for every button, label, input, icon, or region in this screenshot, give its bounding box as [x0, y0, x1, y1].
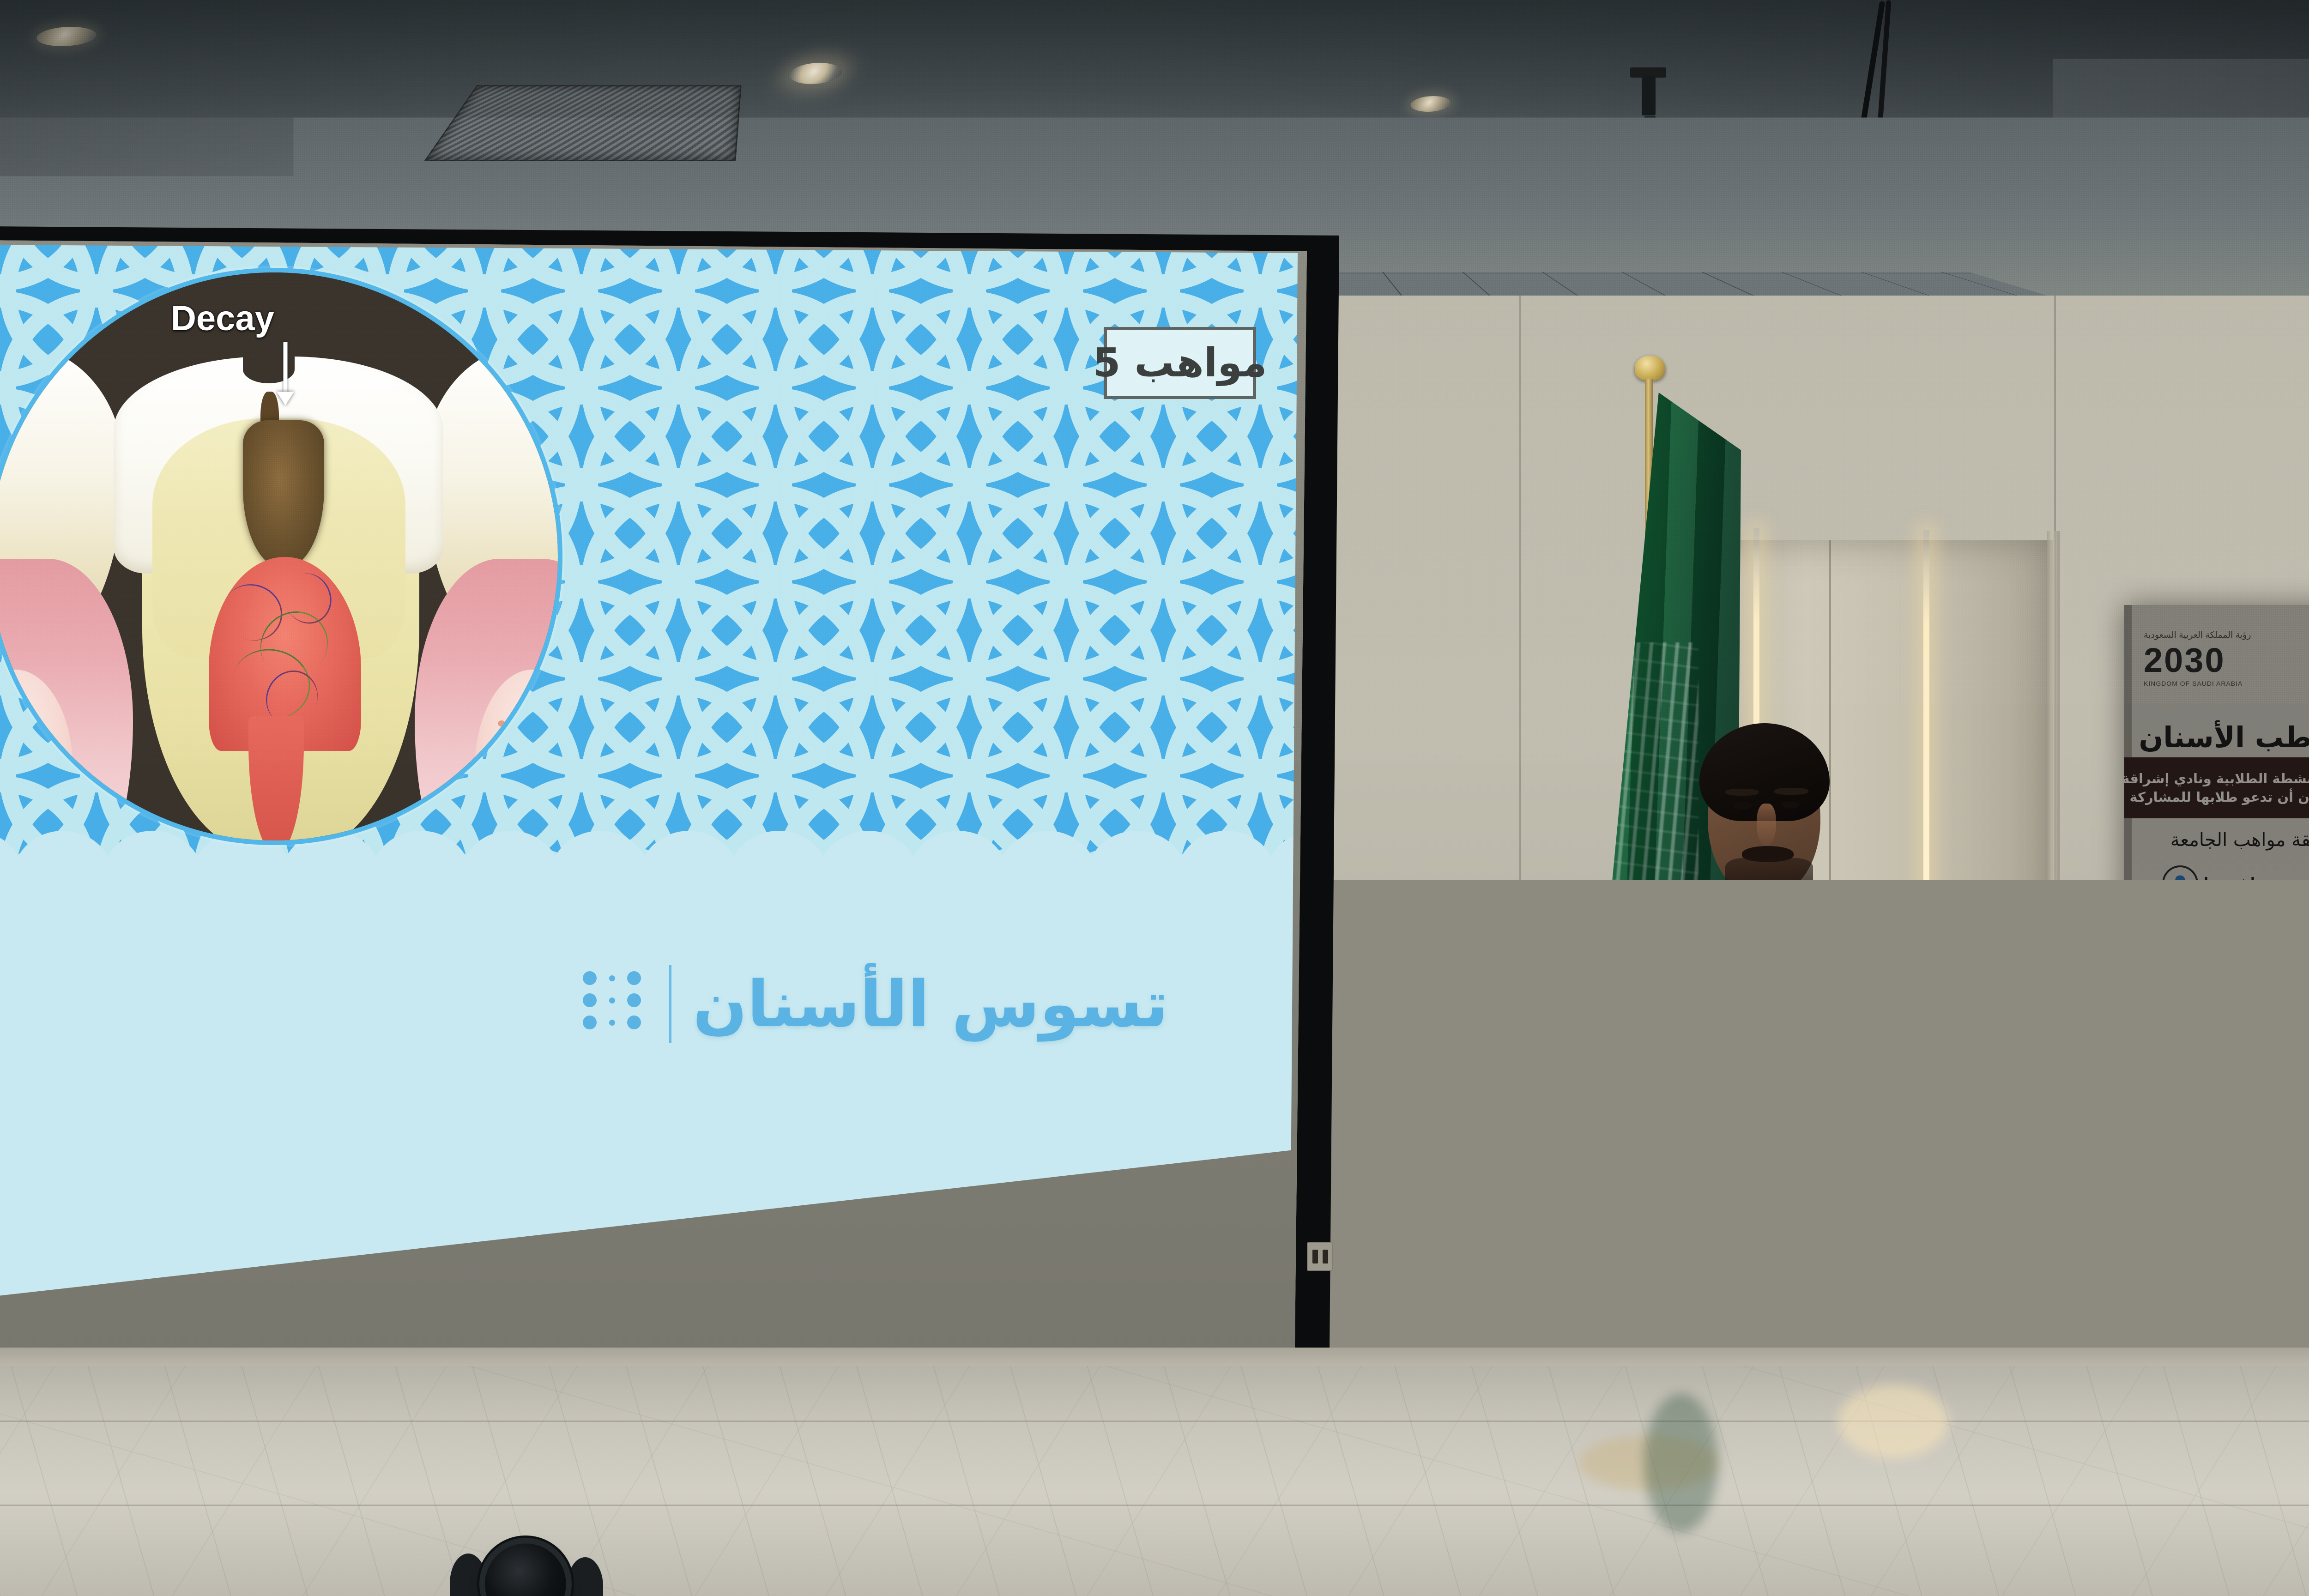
- wall-seam: [1519, 199, 1521, 1353]
- marble-veining: [0, 1366, 2309, 1596]
- presenter-arm-right: [1833, 1060, 1893, 1215]
- lecture-hall-scene: مواهب 5: [0, 0, 2309, 1596]
- prize-cell-acting: التمثيل: [2140, 1082, 2218, 1203]
- camera-body-right: [567, 1557, 603, 1596]
- vision-caption-en: KINGDOM OF SAUDI ARABIA: [2144, 680, 2251, 687]
- logo-dot: [583, 971, 597, 985]
- tv-icon: [2165, 1089, 2194, 1113]
- presenter-beard: [1725, 858, 1813, 903]
- tooth-cross-section-illustration: Decay: [0, 268, 562, 845]
- logo-dot: [609, 997, 615, 1004]
- logo-dot: [583, 993, 597, 1007]
- slide-badge-label: مواهب 5: [1093, 340, 1267, 386]
- floor-tile-seam: [0, 1421, 2309, 1422]
- door-frame-right: [2047, 531, 2060, 1367]
- logo-dot: [627, 993, 641, 1007]
- decay-cavity: [243, 420, 324, 568]
- presenter-eyebrow-left: [1725, 789, 1759, 796]
- scallop-base: [0, 894, 1298, 921]
- projector-vent-grille: [1571, 162, 1724, 224]
- projector-indicator-red-2: [1829, 218, 1845, 225]
- banner-category-label: اشرحها: [2204, 876, 2255, 892]
- presenter-pants: [1663, 1138, 1852, 1378]
- dot-grid-logo-icon: [579, 967, 648, 1041]
- mic-base: [2253, 1108, 2266, 1111]
- projector-side-grille: [1536, 166, 1566, 220]
- tv-frame: [2167, 1094, 2192, 1110]
- presenter-hand-right: [1834, 1196, 1891, 1257]
- bone-marrow-dots-right: [475, 670, 562, 845]
- logo-dot: [583, 1016, 597, 1029]
- presenter-sleeve-right: [1820, 951, 1894, 1077]
- presenter-eye-left: [1734, 802, 1751, 810]
- arrow-shaft: [284, 342, 288, 393]
- microphone-icon: [2245, 1089, 2273, 1113]
- phone-screen-row: [2142, 959, 2159, 966]
- title-divider: [669, 965, 671, 1043]
- banner-category-editing: ▶ المونتاج: [2283, 936, 2309, 972]
- mic-capsule: [2255, 1090, 2264, 1102]
- banner-categories: 🖼 التصوير ▶ المونتاج اشرحها 👤 تطبيقات ال…: [2124, 864, 2309, 1044]
- banner-invitation-band: يسر وحدة الأنشطة الطلابية ونادي إشراقة ب…: [2124, 757, 2309, 818]
- flag-finial-icon: [1635, 356, 1665, 381]
- prize-label: التقديم: [2238, 1184, 2280, 1197]
- prize-cell-presentation: التقديم: [2220, 1082, 2298, 1203]
- alcove-light-reflection: [1838, 1384, 1949, 1458]
- bone-socket-left: [0, 670, 73, 845]
- banner-subtitle: مسابقة مواهب الجامعة: [2124, 829, 2309, 851]
- banner-category-label: المونتاج: [2283, 946, 2309, 962]
- presentation-icon: 👤: [2162, 865, 2198, 901]
- logo-dot: [609, 975, 615, 981]
- prize-cell-design: التصميم: [2300, 1082, 2309, 1203]
- presenter-pocket: [1819, 1205, 1822, 1261]
- banner-invite-line-1: يسر وحدة الأنشطة الطلابية ونادي إشراقة: [2124, 771, 2309, 786]
- laptop-screen-lid: [2159, 1183, 2309, 1467]
- slide-title: تسوس الأسنان: [693, 967, 1168, 1041]
- laptop[interactable]: [2170, 1201, 2309, 1450]
- banner-title: كلية طب الأسنان: [2124, 720, 2309, 754]
- presenter-eyebrow-right: [1774, 788, 1808, 795]
- presentation-glyph: 👤: [2164, 867, 2196, 900]
- banner-category-photography: 🖼 التصوير: [2285, 867, 2309, 903]
- camera-lens-icon: [485, 1543, 566, 1596]
- slide-badge: مواهب 5: [1104, 327, 1256, 399]
- presenter-neck: [1726, 901, 1791, 961]
- bone-marrow-dots-left: [0, 670, 73, 845]
- presenter-finger: [1583, 1071, 1631, 1079]
- wall-power-outlet: [1307, 1242, 1333, 1271]
- presenter-nose: [1757, 804, 1776, 846]
- banner-category-label: التصوير: [2285, 877, 2309, 894]
- banner-prizes-heading: ... جوائز قيمة للمشاركين ...: [2124, 1047, 2309, 1071]
- banner-category-apps: تطبيقات الهواتف الذكية: [2138, 943, 2241, 985]
- bone-socket-right: [475, 670, 562, 845]
- banner-category-label: تطبيقات الهواتف الذكية: [2169, 961, 2241, 984]
- banner-invite-line-2: بكلية طب الأسنان أن تدعو طلابها للمشاركة…: [2124, 789, 2309, 805]
- logo-dot: [609, 1020, 615, 1026]
- vision-caption-ar: رؤية المملكة العربية السعودية: [2144, 630, 2251, 641]
- decay-label: Decay: [171, 298, 274, 339]
- smartphone-icon: [2138, 943, 2163, 985]
- arrow-head: [277, 392, 294, 405]
- slide-title-row: تسوس الأسنان: [579, 965, 1168, 1043]
- marble-floor: [0, 1366, 2309, 1596]
- banner-category-explain: اشرحها 👤: [2162, 865, 2255, 901]
- prize-label: التمثيل: [2159, 1184, 2200, 1197]
- laptop-power-led: [2255, 1399, 2259, 1403]
- ceiling-projector: [1492, 55, 1907, 249]
- projector-indicator-red: [1762, 210, 1783, 218]
- mic-stem: [2258, 1101, 2260, 1108]
- logo-dot: [627, 1016, 641, 1029]
- ceiling-air-vent: [424, 85, 742, 161]
- projector-foot-left: [1723, 227, 1773, 236]
- camera-body-left: [450, 1554, 487, 1596]
- vision-2030-block: رؤية المملكة العربية السعودية 2030 KINGD…: [2144, 630, 2251, 687]
- phone-screen-row: [2142, 968, 2159, 975]
- floor-tile-seam: [0, 1505, 2309, 1506]
- decay-pointer-arrow: [276, 342, 295, 406]
- banner-prizes-row: التمثيل التقديم التصمي: [2140, 1082, 2309, 1203]
- presenter-eye-right: [1782, 801, 1799, 809]
- projector-arm-upper: [1642, 76, 1656, 115]
- projected-slide: مواهب 5: [0, 245, 1298, 1298]
- phone-screen-row: [2142, 949, 2159, 957]
- flag-reflection: [1644, 1394, 1718, 1532]
- logo-dot: [627, 971, 641, 985]
- vision-2030-number: 2030: [2144, 641, 2251, 680]
- video-camera[interactable]: [453, 1538, 600, 1596]
